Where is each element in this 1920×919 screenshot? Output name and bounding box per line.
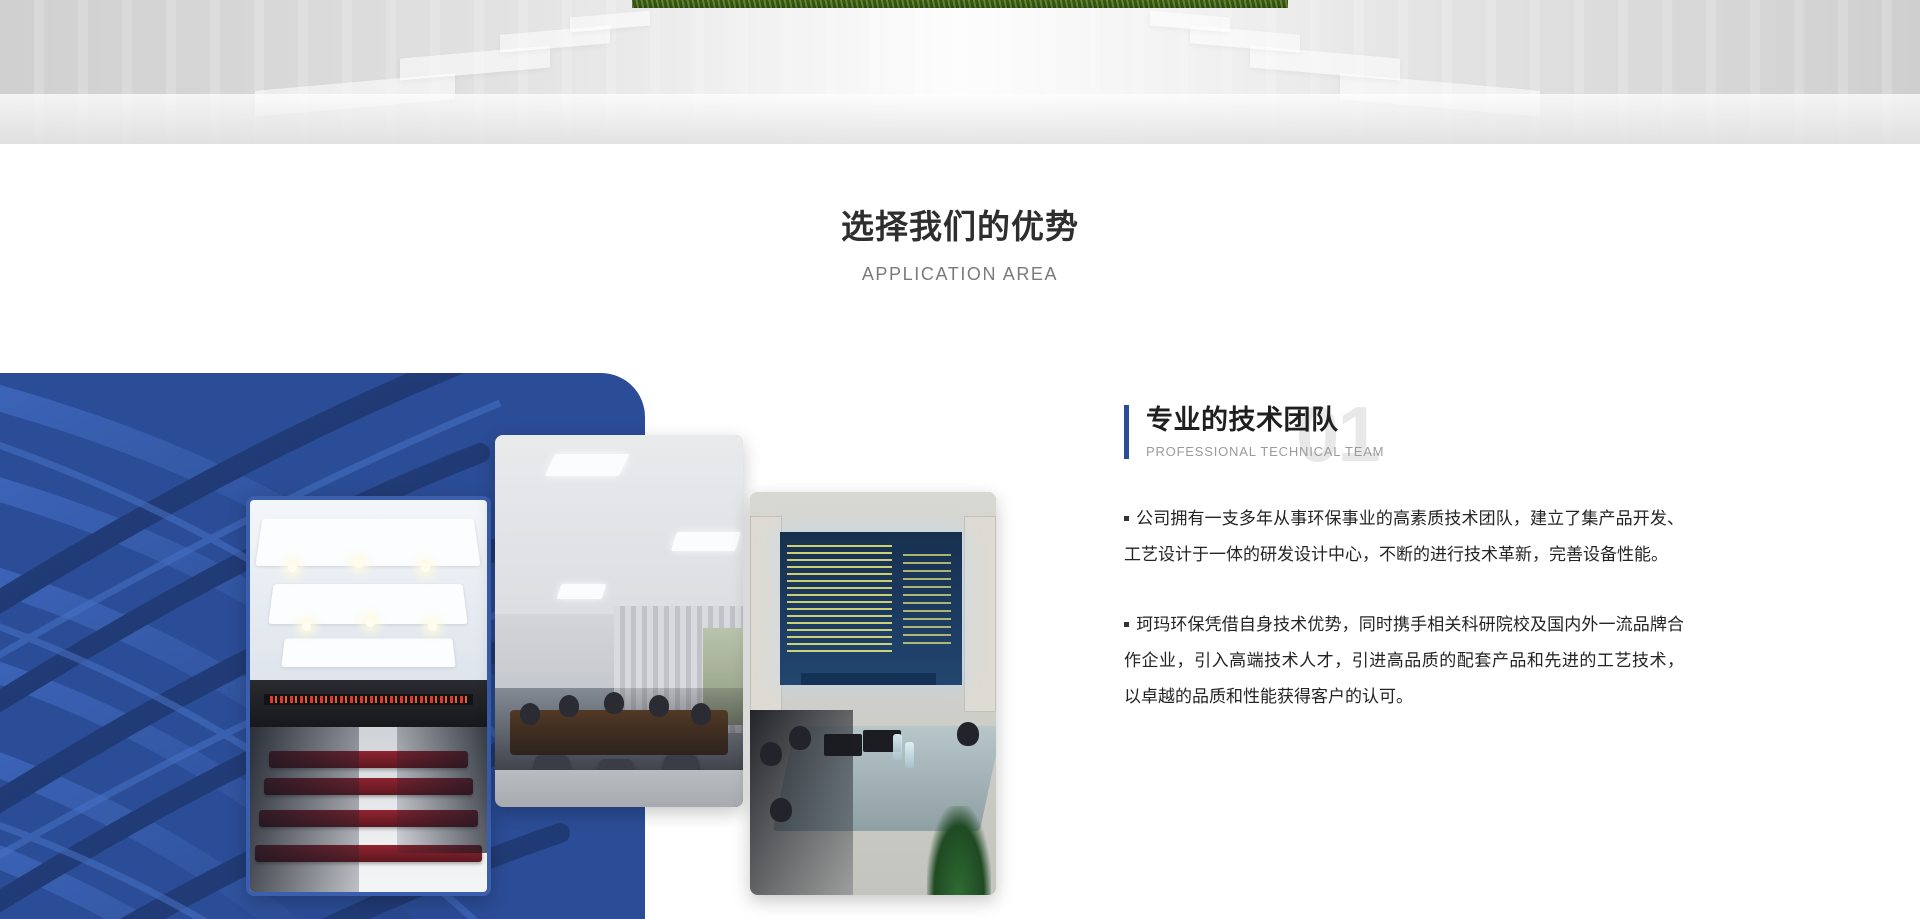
person xyxy=(760,742,782,766)
feature-paragraph-list: 公司拥有一支多年从事环保事业的高素质技术团队，建立了集产品开发、工艺设计于一体的… xyxy=(1124,501,1684,715)
feature-paragraph-text: 公司拥有一支多年从事环保事业的高素质技术团队，建立了集产品开发、工艺设计于一体的… xyxy=(1124,509,1684,564)
list-item[interactable] xyxy=(750,492,996,895)
section-heading: 选择我们的优势 APPLICATION AREA xyxy=(0,144,1920,364)
feature-paragraph-text: 珂玛环保凭借自身技术优势，同时携手相关科研院校及国内外一流品牌合作企业，引入高端… xyxy=(1124,615,1684,706)
projector-presentation-photo xyxy=(750,492,996,895)
ceiling-light xyxy=(421,563,430,572)
person xyxy=(770,798,792,822)
ceiling-light xyxy=(354,559,363,568)
ceiling-light xyxy=(366,618,375,627)
ceiling-light xyxy=(428,622,437,631)
ceiling-light-strip xyxy=(671,532,742,551)
ceiling-light-strip xyxy=(557,584,606,599)
ceiling-panel xyxy=(281,639,455,668)
list-item[interactable] xyxy=(495,435,743,807)
water-bottle xyxy=(905,742,914,768)
ceiling-panel xyxy=(256,518,481,565)
hero-floor xyxy=(0,94,1920,144)
ceiling-light xyxy=(288,563,297,572)
ceiling-light xyxy=(302,622,311,631)
floor xyxy=(495,770,743,807)
feature-subtitle: PROFESSIONAL TECHNICAL TEAM xyxy=(1146,444,1684,459)
hero-banner xyxy=(0,0,1920,144)
led-banner xyxy=(264,694,473,705)
hero-hedge-strip xyxy=(632,0,1288,8)
auditorium-conference-photo xyxy=(250,500,487,892)
accent-bar xyxy=(1124,405,1129,459)
feature-title: 专业的技术团队 xyxy=(1146,403,1684,438)
feature-text-column: 01 专业的技术团队 PROFESSIONAL TECHNICAL TEAM 公… xyxy=(1124,403,1684,715)
page-subtitle: APPLICATION AREA xyxy=(0,247,1920,285)
person xyxy=(957,722,979,746)
list-item[interactable] xyxy=(246,496,491,896)
person xyxy=(520,703,540,725)
person xyxy=(789,726,811,750)
meeting-room-photo xyxy=(495,435,743,807)
person xyxy=(691,703,711,725)
ceiling-light-strip xyxy=(544,454,629,476)
feature-paragraph: 公司拥有一支多年从事环保事业的高素质技术团队，建立了集产品开发、工艺设计于一体的… xyxy=(1124,501,1684,573)
water-bottle xyxy=(893,734,902,760)
person xyxy=(649,695,669,717)
page-title: 选择我们的优势 xyxy=(0,144,1920,247)
feature-paragraph: 珂玛环保凭借自身技术优势，同时携手相关科研院校及国内外一流品牌合作企业，引入高端… xyxy=(1124,607,1684,715)
projection-screen xyxy=(780,532,962,685)
bullet-icon xyxy=(1124,622,1129,627)
feature-heading: 01 专业的技术团队 PROFESSIONAL TECHNICAL TEAM xyxy=(1124,403,1684,459)
cabinet xyxy=(750,516,782,711)
foreground-shadow xyxy=(250,727,359,892)
feature-block-01: 01 专业的技术团队 PROFESSIONAL TECHNICAL TEAM 公… xyxy=(0,373,1920,919)
screen-taskbar xyxy=(801,673,936,685)
person xyxy=(604,692,624,714)
bullet-icon xyxy=(1124,516,1129,521)
potted-plant xyxy=(927,806,991,895)
cabinet xyxy=(964,516,996,711)
foreground-shadow xyxy=(397,727,487,852)
